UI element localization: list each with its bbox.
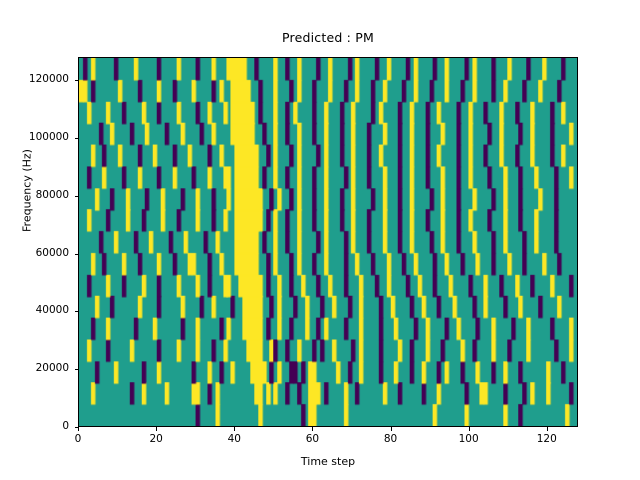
x-tick-label: 40 xyxy=(204,433,264,445)
x-tick-mark xyxy=(78,427,79,431)
chart-title: Predicted : PM xyxy=(78,30,578,45)
y-tick-mark xyxy=(75,254,79,255)
x-tick-mark xyxy=(234,427,235,431)
y-tick-label: 0 xyxy=(0,420,69,432)
x-tick-label: 120 xyxy=(517,433,577,445)
y-tick-label: 40000 xyxy=(0,304,69,316)
y-tick-mark xyxy=(75,138,79,139)
x-axis-label: Time step xyxy=(78,455,578,468)
y-axis-label: Frequency (Hz) xyxy=(21,121,34,261)
y-tick-mark xyxy=(75,196,79,197)
y-tick-label: 120000 xyxy=(0,73,69,85)
x-tick-mark xyxy=(156,427,157,431)
x-tick-label: 100 xyxy=(439,433,499,445)
x-tick-mark xyxy=(391,427,392,431)
x-tick-label: 60 xyxy=(282,433,342,445)
y-tick-label: 20000 xyxy=(0,362,69,374)
x-tick-mark xyxy=(547,427,548,431)
y-tick-mark xyxy=(75,80,79,81)
x-tick-mark xyxy=(312,427,313,431)
y-tick-label: 100000 xyxy=(0,131,69,143)
y-tick-label: 60000 xyxy=(0,247,69,259)
x-tick-label: 80 xyxy=(361,433,421,445)
y-tick-label: 80000 xyxy=(0,189,69,201)
y-tick-mark xyxy=(75,311,79,312)
y-tick-mark xyxy=(75,369,79,370)
x-tick-label: 0 xyxy=(48,433,108,445)
matplotlib-figure: Predicted : PM 020406080100120 020000400… xyxy=(0,0,640,480)
heatmap-canvas xyxy=(79,58,577,426)
y-tick-mark xyxy=(75,427,79,428)
x-tick-mark xyxy=(469,427,470,431)
x-tick-label: 20 xyxy=(126,433,186,445)
heatmap-axes xyxy=(78,57,578,427)
